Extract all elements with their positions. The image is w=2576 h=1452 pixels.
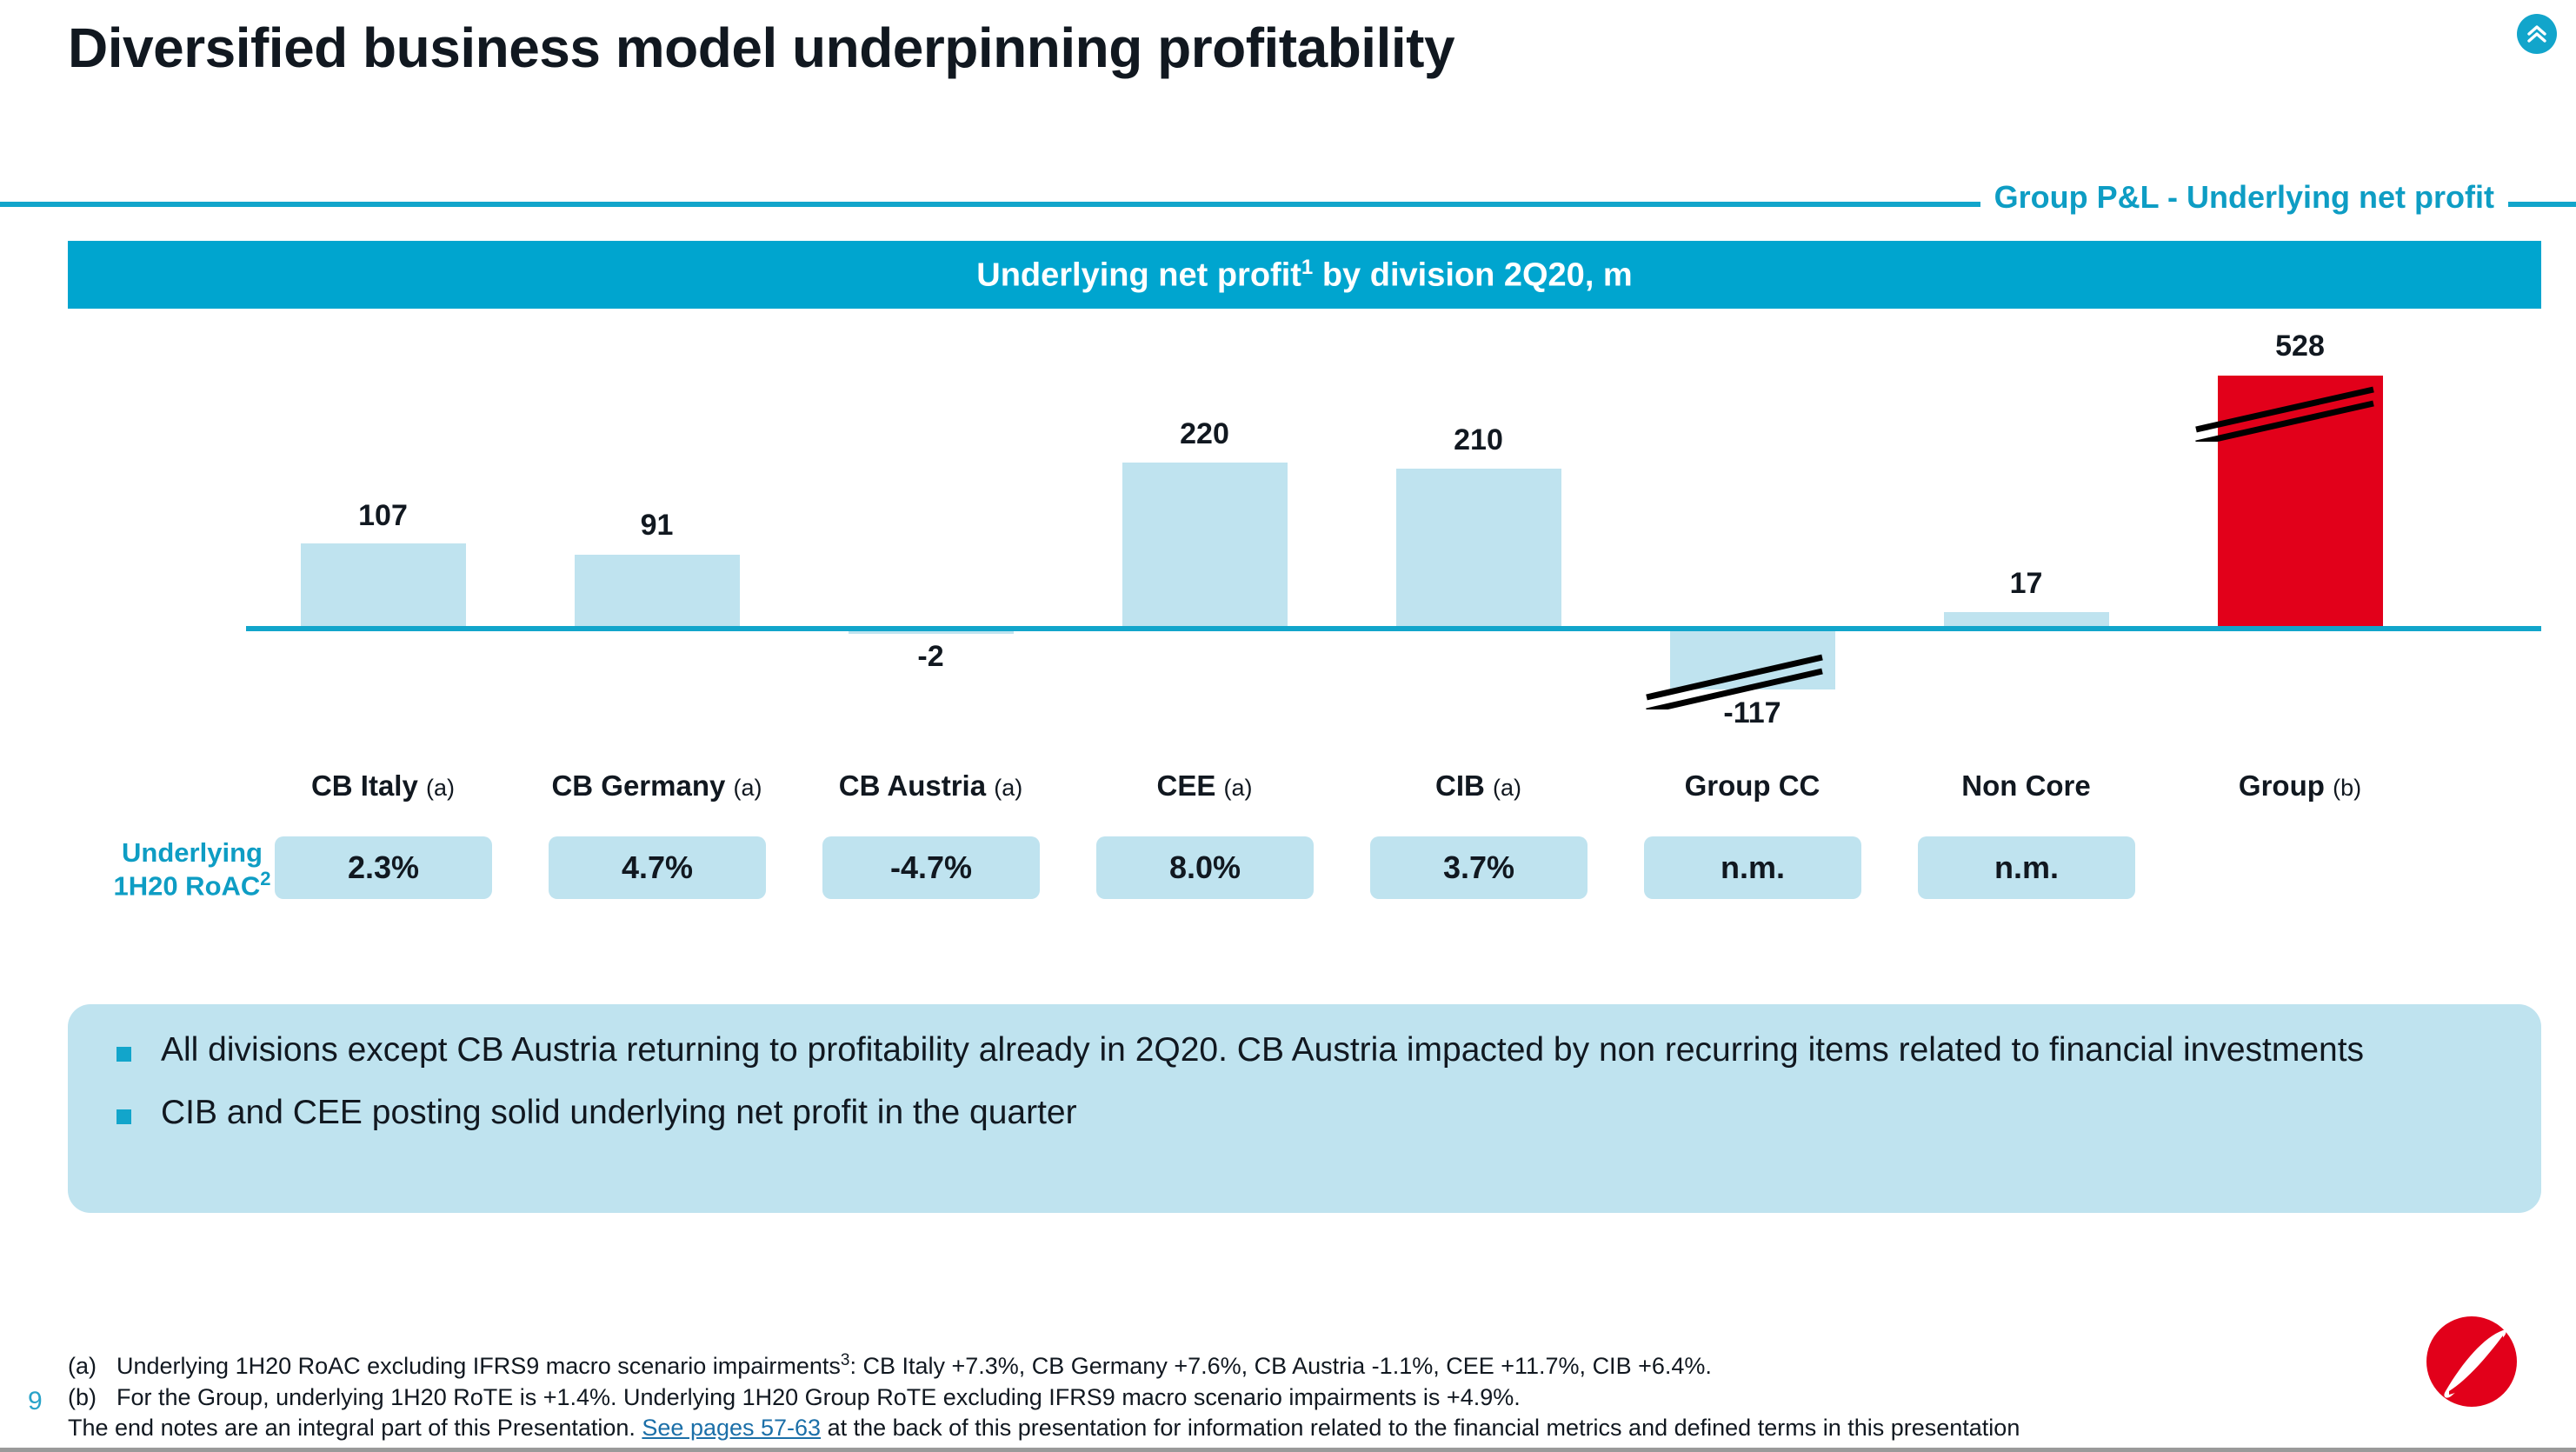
category-label-non-core: Non Core	[1889, 769, 2163, 803]
zero-axis-line	[246, 626, 2541, 631]
roac-pill-group-cc: n.m.	[1644, 836, 1861, 899]
category-footnote-ref: (a)	[1224, 775, 1253, 801]
roac-pill-cb-italy: 2.3%	[275, 836, 492, 899]
bar-rect[interactable]	[849, 631, 1014, 634]
category-footnote-ref: (a)	[426, 775, 455, 801]
category-label-group-cc: Group CC	[1615, 769, 1889, 803]
roac-pill-cb-austria: -4.7%	[822, 836, 1040, 899]
roac-caption-footnote-ref: 2	[260, 868, 270, 889]
category-name: CEE	[1156, 769, 1215, 802]
roac-caption-line1: Underlying	[92, 838, 292, 869]
bar-rect[interactable]	[2218, 376, 2383, 626]
category-name: Group	[2239, 769, 2325, 802]
footnote-a-tag: (a)	[68, 1351, 116, 1382]
bar-group-non-core[interactable]: 17	[1889, 330, 2163, 835]
bar-chart: 107 91 -2 220 210	[68, 330, 2541, 835]
category-name: CIB	[1435, 769, 1485, 802]
category-label-cib: CIB (a)	[1341, 769, 1615, 803]
bar-group-cb-austria[interactable]: -2	[794, 330, 1068, 835]
double-chevron-up-icon[interactable]	[2517, 14, 2557, 54]
slide-root: Diversified business model underpinning …	[0, 0, 2576, 1452]
list-item: CIB and CEE posting solid underlying net…	[116, 1091, 2503, 1135]
endnote-pages-link[interactable]: See pages 57-63	[642, 1415, 821, 1441]
bar-value-label: 107	[246, 499, 520, 533]
category-label-cb-italy: CB Italy (a)	[246, 769, 520, 803]
roac-pill-non-core: n.m.	[1918, 836, 2135, 899]
category-name: CB Austria	[839, 769, 986, 802]
chart-title: Underlying net profit1 by division 2Q20,…	[976, 256, 1632, 295]
category-label-group: Group (b)	[2163, 769, 2437, 803]
bar-group-cib[interactable]: 210	[1341, 330, 1615, 835]
page-title: Diversified business model underpinning …	[68, 16, 1454, 80]
unicredit-logo-icon	[2420, 1311, 2524, 1415]
category-footnote-ref: (a)	[1493, 775, 1521, 801]
bullet-square-icon	[116, 1109, 131, 1124]
category-label-cb-germany: CB Germany (a)	[520, 769, 794, 803]
chart-title-footnote-ref: 1	[1301, 256, 1313, 279]
list-item: All divisions except CB Austria returnin…	[116, 1029, 2503, 1072]
bar-value-label: 17	[1889, 567, 2163, 601]
bar-group-cee[interactable]: 220	[1068, 330, 1341, 835]
bar-value-label: 528	[2163, 330, 2437, 363]
footnote-b-text: For the Group, underlying 1H20 RoTE is +…	[116, 1384, 1521, 1410]
category-name: Group CC	[1685, 769, 1821, 802]
footnote-b: (b)For the Group, underlying 1H20 RoTE i…	[68, 1382, 2293, 1414]
bar-value-label: -117	[1615, 696, 1889, 730]
bar-rect[interactable]	[1396, 469, 1561, 626]
bar-rect[interactable]	[575, 555, 740, 626]
bar-value-label: 210	[1341, 423, 1615, 457]
breadcrumb: Group P&L - Underlying net profit	[1980, 179, 2508, 216]
category-footnote-ref: (b)	[2333, 775, 2361, 801]
bar-group-cb-germany[interactable]: 91	[520, 330, 794, 835]
category-name: CB Germany	[551, 769, 725, 802]
bar-rect[interactable]	[1670, 631, 1835, 689]
footnote-a-text-rest: : CB Italy +7.3%, CB Germany +7.6%, CB A…	[849, 1353, 1711, 1379]
bar-group-group-cc[interactable]: -117	[1615, 330, 1889, 835]
roac-row: Underlying 1H20 RoAC2 2.3% 4.7% -4.7% 8.…	[68, 836, 2541, 908]
category-label-cee: CEE (a)	[1068, 769, 1341, 803]
roac-pill-cee: 8.0%	[1096, 836, 1314, 899]
category-footnote-ref: (a)	[734, 775, 762, 801]
category-label-cb-austria: CB Austria (a)	[794, 769, 1068, 803]
roac-caption-line2: 1H20 RoAC2	[92, 869, 292, 902]
bar-rect[interactable]	[1944, 612, 2109, 626]
footnote-a-ref: 3	[841, 1351, 850, 1369]
chart-title-rest: by division 2Q20, m	[1313, 256, 1632, 293]
bar-rect[interactable]	[301, 543, 466, 626]
slide-bottom-divider	[0, 1448, 2576, 1452]
bullet-text: CIB and CEE posting solid underlying net…	[161, 1091, 1077, 1135]
category-name: CB Italy	[311, 769, 418, 802]
category-footnote-ref: (a)	[994, 775, 1022, 801]
commentary-box: All divisions except CB Austria returnin…	[68, 1004, 2541, 1213]
bar-group-group-total[interactable]: 528	[2163, 330, 2437, 835]
roac-pill-cib: 3.7%	[1370, 836, 1588, 899]
page-number: 9	[28, 1387, 43, 1416]
footnote-b-tag: (b)	[68, 1382, 116, 1414]
bar-value-label: 220	[1068, 417, 1341, 451]
category-axis: CB Italy (a) CB Germany (a) CB Austria (…	[68, 769, 2541, 818]
bar-group-cb-italy[interactable]: 107	[246, 330, 520, 835]
endnote-line: The end notes are an integral part of th…	[68, 1413, 2293, 1444]
roac-row-caption: Underlying 1H20 RoAC2	[92, 838, 292, 902]
endnote-text-after: at the back of this presentation for inf…	[821, 1415, 2020, 1441]
bar-value-label: 91	[520, 509, 794, 543]
footnote-a-text: Underlying 1H20 RoAC excluding IFRS9 mac…	[116, 1353, 841, 1379]
chart-title-main: Underlying net profit	[976, 256, 1301, 293]
bullet-text: All divisions except CB Austria returnin…	[161, 1029, 2364, 1072]
footnotes: (a)Underlying 1H20 RoAC excluding IFRS9 …	[68, 1349, 2293, 1444]
bar-value-label: -2	[794, 640, 1068, 674]
bullet-square-icon	[116, 1047, 131, 1062]
chart-title-banner: Underlying net profit1 by division 2Q20,…	[68, 241, 2541, 309]
roac-pill-cb-germany: 4.7%	[549, 836, 766, 899]
bar-rect[interactable]	[1122, 463, 1288, 626]
footnote-a: (a)Underlying 1H20 RoAC excluding IFRS9 …	[68, 1349, 2293, 1382]
endnote-text-before: The end notes are an integral part of th…	[68, 1415, 642, 1441]
category-name: Non Core	[1961, 769, 2091, 802]
